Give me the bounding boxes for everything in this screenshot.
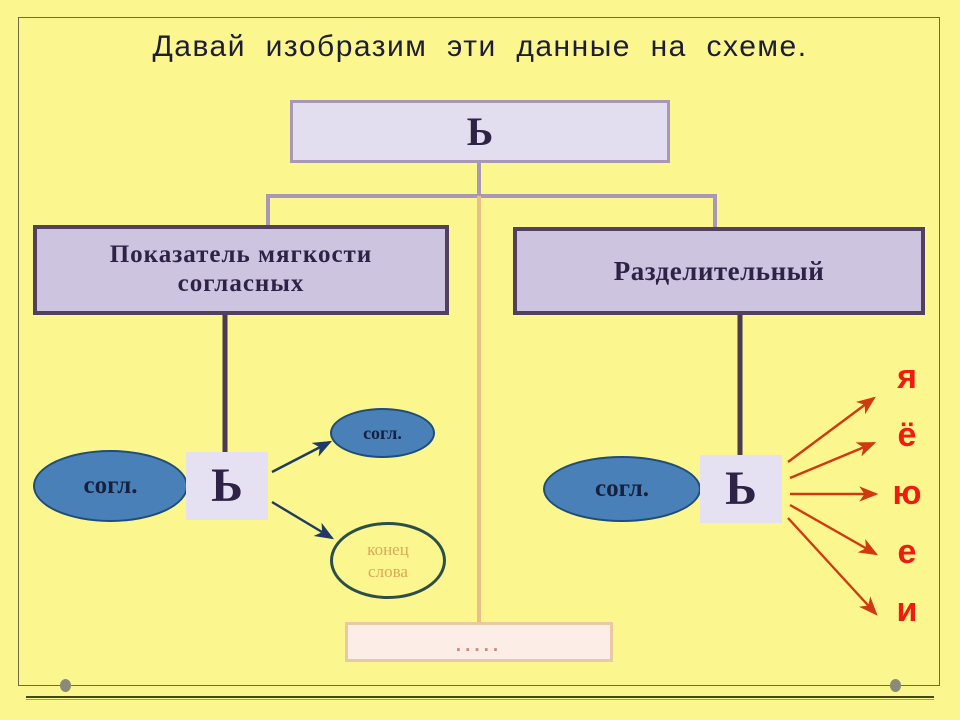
word-end-line-2: слова	[368, 561, 408, 582]
bottom-rule	[26, 696, 934, 700]
vowel-yo[interactable]: ё	[884, 418, 930, 452]
slide-canvas: Давай изобразим эти данные на схеме. Ь П…	[0, 0, 960, 720]
ellipse-consonant-after[interactable]: согл.	[330, 408, 435, 458]
node-root-soft-sign[interactable]: Ь	[290, 100, 670, 163]
ellipse-consonant-left[interactable]: согл.	[33, 450, 188, 522]
node-separating[interactable]: Разделительный	[513, 227, 925, 315]
letter-tile-right-soft-sign[interactable]: Ь	[700, 455, 782, 523]
ellipse-consonant-right[interactable]: согл.	[543, 456, 701, 522]
node-footer-placeholder[interactable]: .....	[345, 622, 613, 662]
page-title: Давай изобразим эти данные на схеме.	[0, 30, 960, 64]
letter-tile-left-soft-sign[interactable]: Ь	[186, 452, 268, 520]
corner-dot-left	[60, 679, 71, 692]
vowel-ya[interactable]: я	[884, 360, 930, 394]
ellipse-word-end[interactable]: конец слова	[330, 522, 446, 599]
vowel-yu[interactable]: ю	[884, 476, 930, 510]
vowel-i[interactable]: и	[884, 593, 930, 627]
vowel-ye[interactable]: е	[884, 535, 930, 569]
word-end-line-1: конец	[367, 539, 409, 560]
node-softness-indicator[interactable]: Показатель мягкости согласных	[33, 225, 449, 315]
corner-dot-right	[890, 679, 901, 692]
